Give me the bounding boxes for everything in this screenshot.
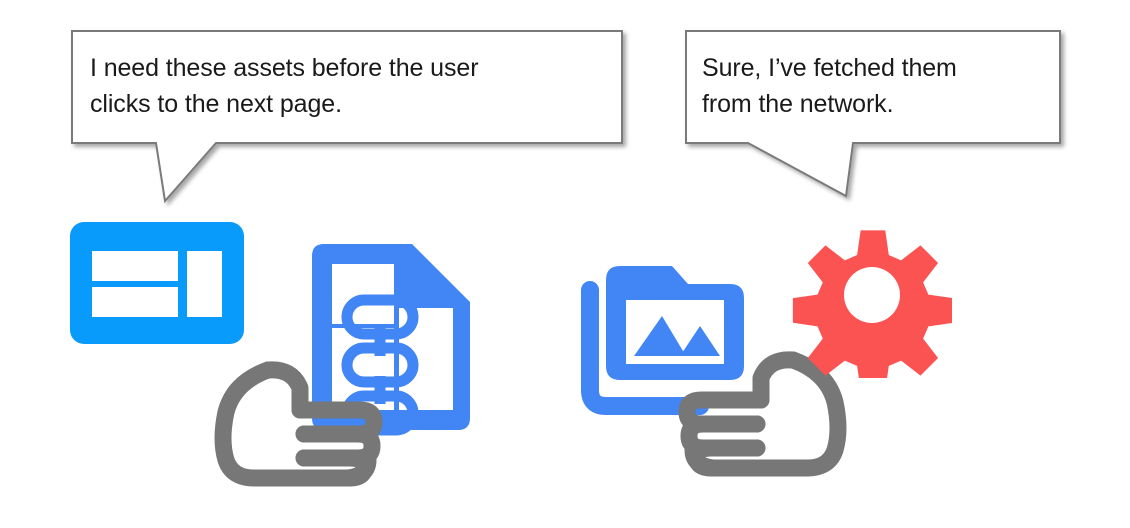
layout-panel-icon [70,222,244,344]
hand-left-icon [208,348,393,494]
document-inner-top [332,264,394,324]
layout-panel-row-top [92,251,178,281]
illustration-canvas: I need these assets before the user clic… [0,0,1130,528]
layout-panel-row-bottom [92,287,178,317]
gear-icon [792,218,952,378]
gear-body [793,230,952,378]
icon-group [0,0,1130,528]
hand-left-outline [223,370,374,478]
layout-panel-side-column [187,251,222,317]
gear-center-hole [844,267,900,323]
